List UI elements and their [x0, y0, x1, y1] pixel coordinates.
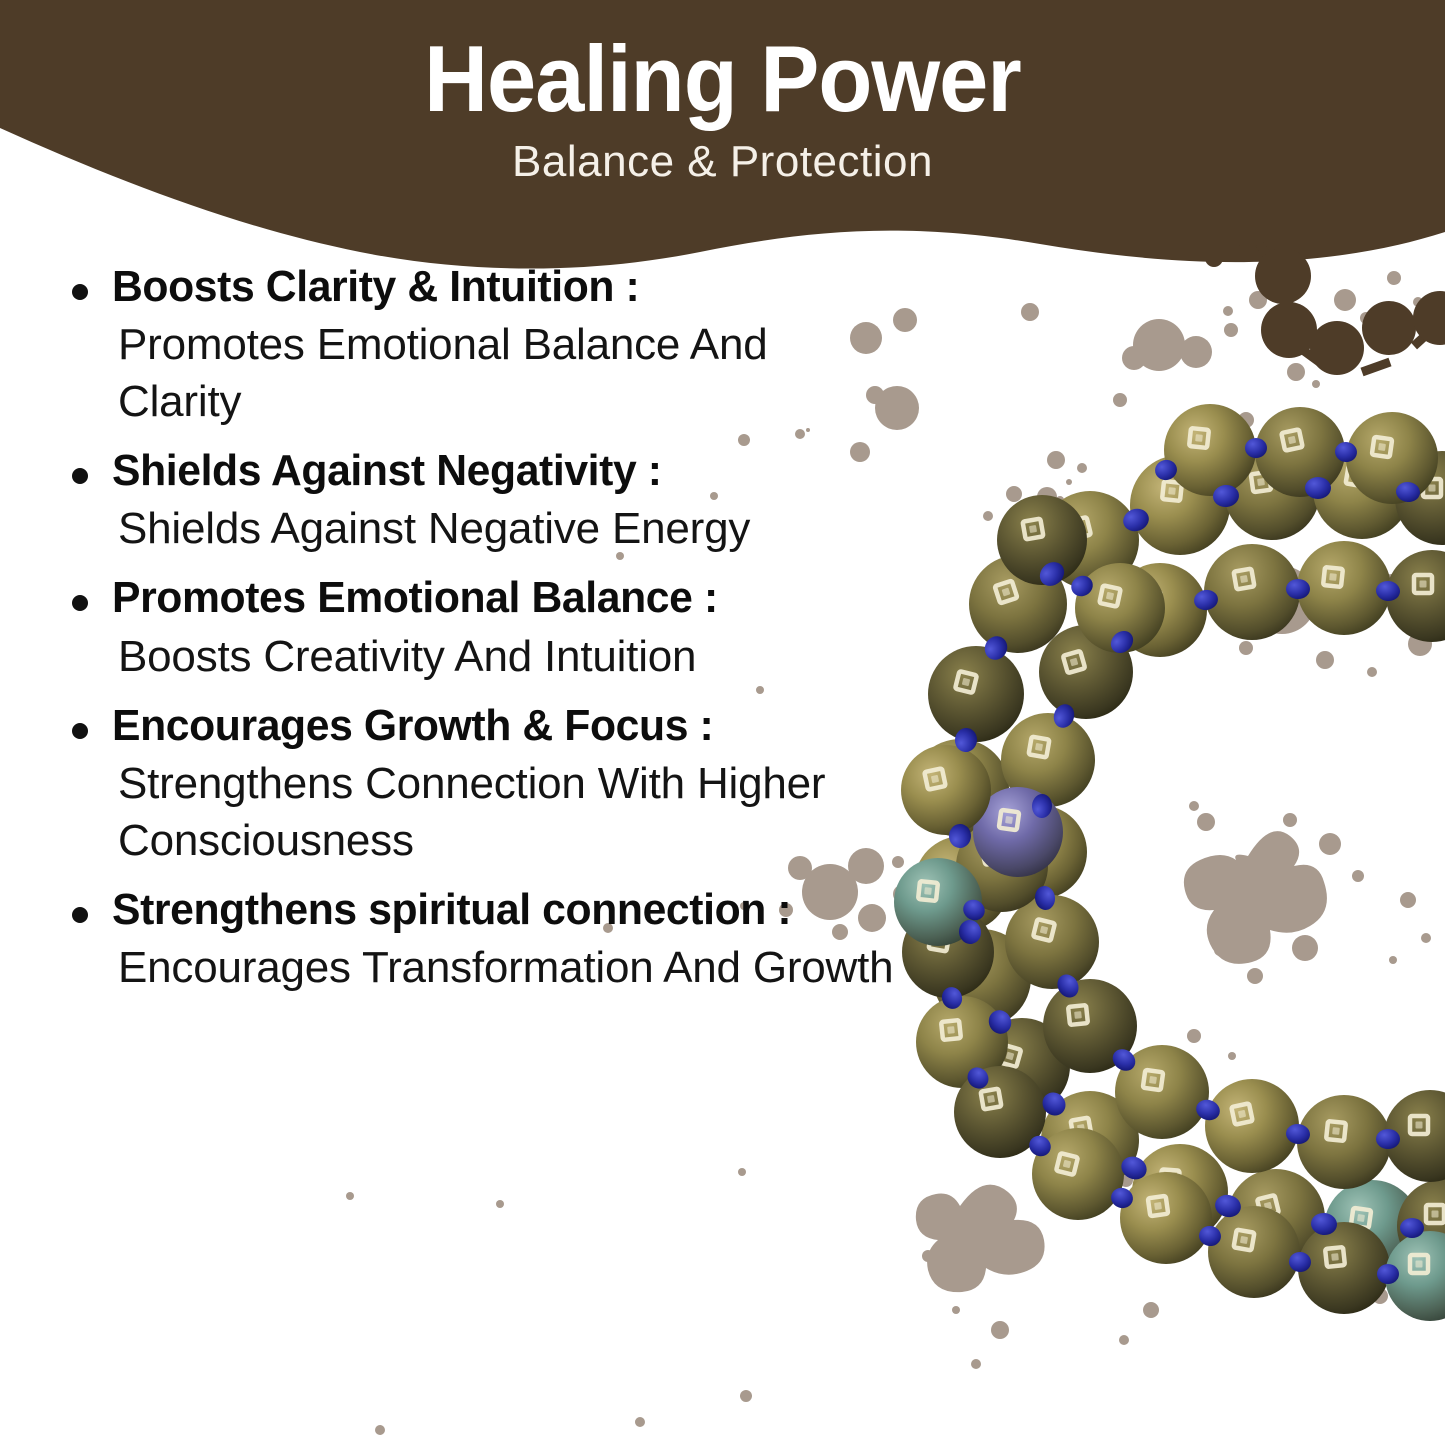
benefit-item-spiritual-connection: Strengthens spiritual connection : Encou…: [50, 885, 950, 997]
infographic-page: Healing Power Balance & Protection: [0, 0, 1445, 1445]
benefit-body: Shields Against Negative Energy: [118, 501, 898, 557]
header-text-block: Healing Power Balance & Protection: [0, 0, 1445, 230]
benefit-item-clarity: Boosts Clarity & Intuition : Promotes Em…: [50, 262, 950, 430]
benefit-body: Promotes Emotional Balance And Clarity: [118, 317, 898, 430]
benefit-item-growth-focus: Encourages Growth & Focus : Strengthens …: [50, 701, 950, 869]
bullet-dot-icon: [72, 907, 88, 923]
benefit-heading: Strengthens spiritual connection :: [112, 885, 925, 934]
page-title: Healing Power: [43, 0, 1401, 128]
benefit-body: Strengthens Connection With Higher Consc…: [118, 756, 898, 869]
benefit-item-emotional-balance: Promotes Emotional Balance : Boosts Crea…: [50, 573, 950, 685]
benefit-body: Boosts Creativity And Intuition: [118, 629, 898, 685]
benefit-heading: Shields Against Negativity :: [112, 446, 925, 495]
bullet-dot-icon: [72, 595, 88, 611]
page-subtitle: Balance & Protection: [0, 128, 1445, 186]
benefit-body: Encourages Transformation And Growth: [118, 940, 898, 996]
benefit-heading: Encourages Growth & Focus :: [112, 701, 925, 750]
benefit-heading: Promotes Emotional Balance :: [112, 573, 925, 622]
bullet-dot-icon: [72, 723, 88, 739]
benefits-list: Boosts Clarity & Intuition : Promotes Em…: [50, 262, 950, 1013]
bullet-dot-icon: [72, 468, 88, 484]
benefit-heading: Boosts Clarity & Intuition :: [112, 262, 925, 311]
bullet-dot-icon: [72, 284, 88, 300]
benefit-item-negativity: Shields Against Negativity : Shields Aga…: [50, 446, 950, 558]
